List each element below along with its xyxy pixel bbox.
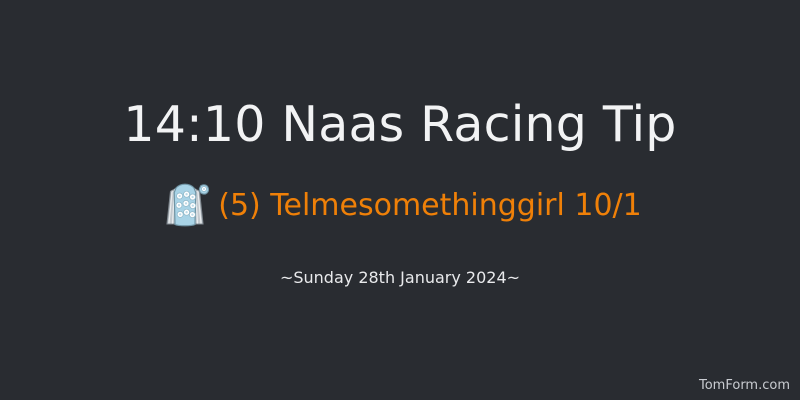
race-date: ~Sunday 28th January 2024~ (0, 267, 800, 289)
racing-tip-card: 14:10 Naas Racing Tip (0, 0, 800, 400)
silk-cap (200, 185, 209, 194)
racing-silk-icon (158, 180, 212, 232)
race-date-text: ~Sunday 28th January 2024~ (280, 267, 520, 289)
silk-body-spots (176, 191, 196, 217)
tip-selection-text: (5) Telmesomethinggirl 10/1 (218, 186, 642, 226)
page-title-text: 14:10 Naas Racing Tip (123, 96, 676, 154)
racing-silk-svg (158, 180, 212, 232)
site-watermark: TomForm.com (699, 378, 790, 394)
page-title: 14:10 Naas Racing Tip (0, 96, 800, 154)
tip-row: (5) Telmesomethinggirl 10/1 (0, 180, 800, 232)
